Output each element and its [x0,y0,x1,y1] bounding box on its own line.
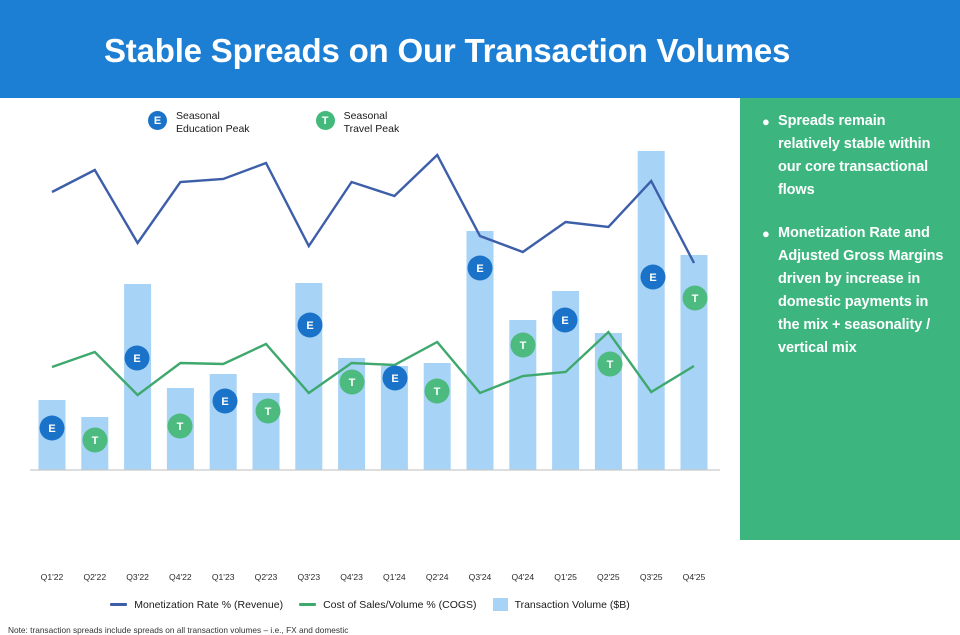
slide-header-band: Stable Spreads on Our Transaction Volume… [0,0,960,98]
svg-text:E: E [476,263,483,275]
svg-text:T: T [434,386,441,398]
insight-bullet: ●Spreads remain relatively stable within… [762,110,948,202]
insight-bullet-text: Monetization Rate and Adjusted Gross Mar… [778,222,948,360]
x-axis-tick-label: Q3'24 [458,572,502,582]
insight-bullet: ●Monetization Rate and Adjusted Gross Ma… [762,222,948,360]
insights-panel: ●Spreads remain relatively stable within… [740,98,960,540]
x-axis-tick-label: Q2'23 [244,572,288,582]
svg-text:E: E [561,315,568,327]
seasonal-marker-travel: T [598,352,623,377]
svg-text:E: E [306,320,313,332]
legend-item[interactable]: Monetization Rate % (Revenue) [110,599,283,611]
x-axis-tick-label: Q3'23 [287,572,331,582]
legend-item[interactable]: Transaction Volume ($B) [493,598,630,611]
insights-bullet-list: ●Spreads remain relatively stable within… [762,110,948,380]
svg-text:T: T [607,359,614,371]
chart-legend: Monetization Rate % (Revenue)Cost of Sal… [0,598,740,611]
seasonal-marker-education: E [298,313,323,338]
seasonal-marker-travel: T [256,399,281,424]
seasonal-marker-travel: T [83,428,108,453]
x-axis-tick-label: Q2'22 [73,572,117,582]
bullet-dot-icon: ● [762,110,778,133]
x-axis-tick-label: Q1'24 [372,572,416,582]
x-axis-tick-label: Q4'23 [330,572,374,582]
legend-item[interactable]: Cost of Sales/Volume % (COGS) [299,599,476,611]
legend-label: Monetization Rate % (Revenue) [134,599,283,611]
chart-panel: E Seasonal Education Peak T Seasonal Tra… [0,98,740,540]
x-axis-tick-label: Q3'22 [116,572,160,582]
svg-text:E: E [133,353,140,365]
x-axis-tick-label: Q4'24 [501,572,545,582]
seasonal-marker-travel: T [511,333,536,358]
bar-series [39,151,708,470]
seasonal-marker-education: E [383,366,408,391]
insight-bullet-text: Spreads remain relatively stable within … [778,110,948,202]
svg-text:E: E [48,423,55,435]
x-axis-tick-label: Q4'22 [158,572,202,582]
legend-label: Cost of Sales/Volume % (COGS) [323,599,476,611]
footnote: Note: transaction spreads include spread… [8,625,348,635]
bar [210,374,237,470]
legend-line-swatch-icon [110,603,127,606]
legend-label: Transaction Volume ($B) [515,599,630,611]
page-title: Stable Spreads on Our Transaction Volume… [104,31,904,71]
monetization-line-series [52,155,694,263]
svg-text:T: T [92,435,99,447]
svg-text:T: T [692,293,699,305]
bar [124,284,151,470]
svg-text:E: E [649,272,656,284]
chart-svg: ETETETETETETETET [0,98,740,540]
seasonal-marker-education: E [553,308,578,333]
seasonal-marker-education: E [641,265,666,290]
seasonal-marker-education: E [40,416,65,441]
svg-text:E: E [391,373,398,385]
seasonal-marker-travel: T [683,286,708,311]
x-axis-tick-label: Q1'25 [544,572,588,582]
x-axis-tick-label: Q3'25 [629,572,673,582]
x-axis-tick-label: Q1'23 [201,572,245,582]
seasonal-marker-travel: T [340,370,365,395]
svg-text:T: T [349,377,356,389]
seasonal-marker-travel: T [425,379,450,404]
x-axis-tick-label: Q2'24 [415,572,459,582]
seasonal-marker-travel: T [168,414,193,439]
bar [295,283,322,470]
seasonal-marker-education: E [125,346,150,371]
x-axis-tick-label: Q4'25 [672,572,716,582]
x-axis-tick-label: Q1'22 [30,572,74,582]
svg-text:E: E [221,396,228,408]
svg-text:T: T [177,421,184,433]
plot-area: ETETETETETETETET Q1'22Q2'22Q3'22Q4'22Q1'… [0,98,740,540]
svg-text:T: T [265,406,272,418]
seasonal-marker-education: E [468,256,493,281]
legend-line-swatch-icon [299,603,316,606]
bullet-dot-icon: ● [762,222,778,245]
slide: Stable Spreads on Our Transaction Volume… [0,0,960,540]
svg-text:T: T [520,340,527,352]
x-axis-tick-label: Q2'25 [586,572,630,582]
seasonal-marker-education: E [213,389,238,414]
legend-box-swatch-icon [493,598,508,611]
